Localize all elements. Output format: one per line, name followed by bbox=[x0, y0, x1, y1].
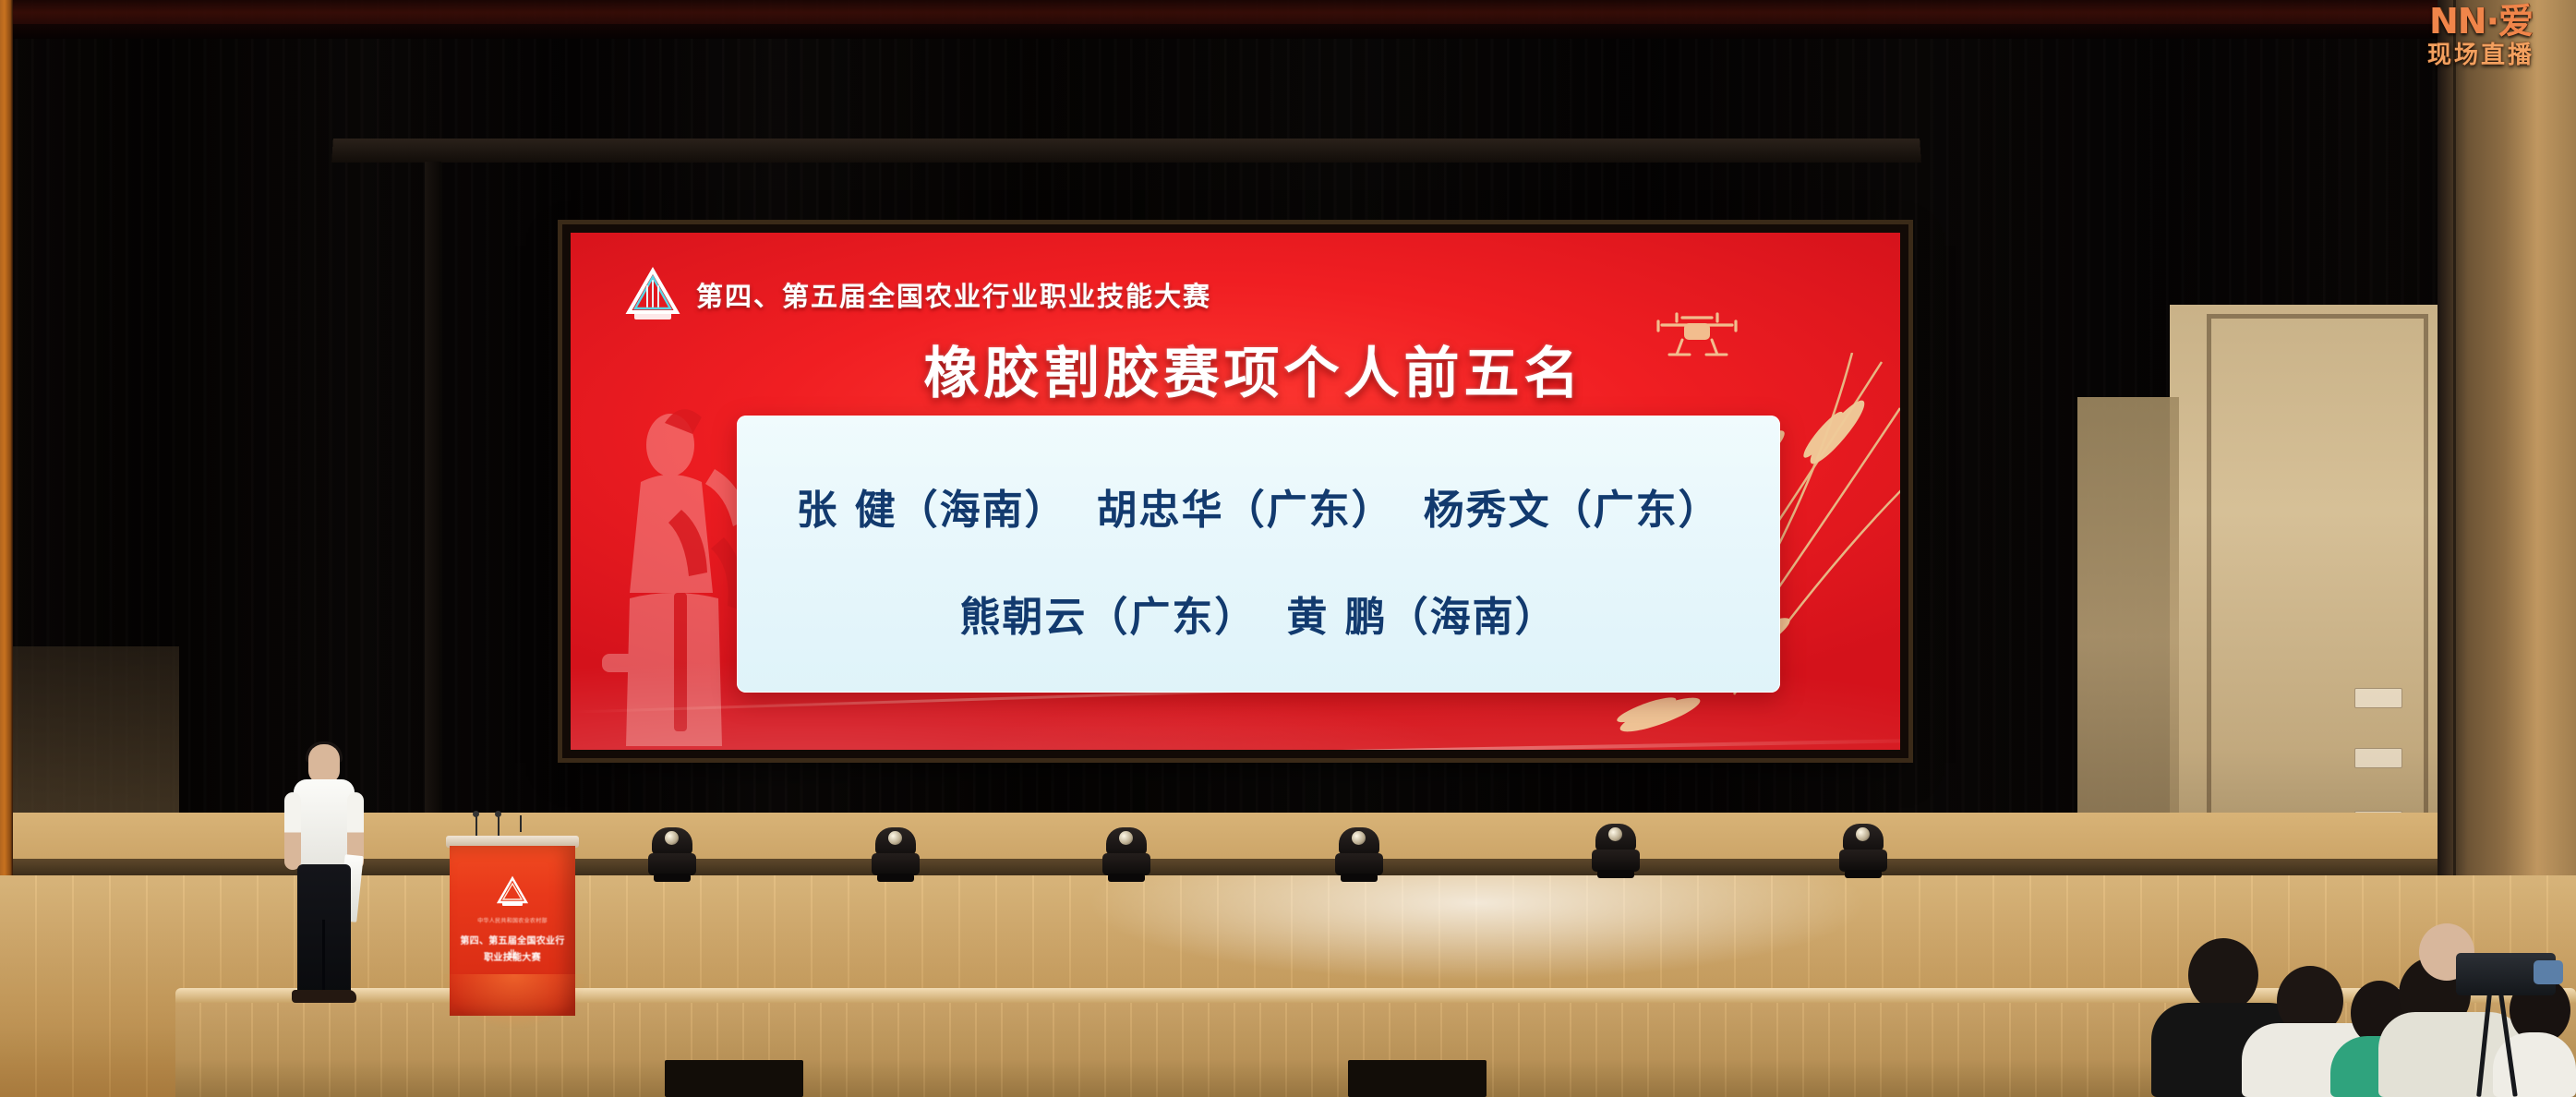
stage-front-vent bbox=[665, 1060, 803, 1097]
winners-card: 张 健（海南）胡忠华（广东）杨秀文（广东） 熊朝云（广东）黄 鹏（海南） bbox=[737, 416, 1780, 693]
curtain-valance-shadow bbox=[0, 24, 2576, 39]
auditorium-scene: 第四、第五届全国农业行业职业技能大赛 橡胶割胶赛项个人前五名 张 bbox=[0, 0, 2576, 1097]
presenter-head bbox=[308, 744, 340, 783]
broadcast-watermark: NN·爱 现场直播 bbox=[2399, 4, 2563, 76]
podium-text-line-3: 职业技能大赛 bbox=[457, 949, 568, 963]
audience-head bbox=[2188, 938, 2258, 1012]
podium-floor-glow bbox=[440, 974, 588, 1030]
moving-head-light bbox=[1590, 818, 1642, 879]
presenter-shoe bbox=[319, 990, 356, 1003]
winner-region: （广东） bbox=[1087, 594, 1257, 641]
channel-logo: NN·爱 bbox=[2399, 4, 2563, 39]
microphone-stand bbox=[475, 815, 477, 838]
right-door-frame bbox=[2207, 314, 2428, 868]
moving-head-light bbox=[870, 822, 921, 883]
proscenium-arch-beam bbox=[331, 139, 1921, 163]
winner-entry: 张 健（海南） bbox=[796, 476, 1066, 536]
microphone-stand bbox=[498, 815, 500, 838]
winner-region: （广东） bbox=[1551, 487, 1721, 534]
winners-row-1: 张 健（海南）胡忠华（广东）杨秀文（广东） bbox=[737, 476, 1780, 536]
moving-head-light bbox=[1333, 822, 1385, 883]
microphone-head bbox=[495, 811, 501, 817]
competition-emblem bbox=[624, 266, 681, 323]
moving-head-light bbox=[646, 822, 698, 883]
led-presentation-screen: 第四、第五届全国农业行业职业技能大赛 橡胶割胶赛项个人前五名 张 bbox=[571, 233, 1900, 750]
slide-event-header: 第四、第五届全国农业行业职业技能大赛 bbox=[696, 275, 1211, 314]
slide-header: 第四、第五届全国农业行业职业技能大赛 bbox=[624, 266, 1211, 323]
podium-lectern: 中华人民共和国农业农村部 第四、第五届全国农业行业 职业技能大赛 bbox=[450, 836, 575, 1016]
presenter-arm-left bbox=[284, 792, 301, 870]
winner-entry: 杨秀文（广东） bbox=[1424, 476, 1721, 536]
moving-head-light bbox=[1837, 818, 1889, 879]
winner-entry: 胡忠华（广东） bbox=[1097, 476, 1394, 536]
podium-text-line-1: 中华人民共和国农业农村部 bbox=[457, 916, 568, 924]
presenter-leg-split bbox=[322, 920, 325, 994]
live-broadcast-label: 现场直播 bbox=[2399, 43, 2563, 67]
wall-sign-plate bbox=[2354, 748, 2402, 768]
microphone-head bbox=[473, 811, 479, 817]
winner-region: （海南） bbox=[897, 487, 1067, 534]
moving-head-light bbox=[1101, 822, 1152, 883]
camera-viewfinder bbox=[2534, 960, 2563, 984]
winner-name: 张 健 bbox=[796, 487, 897, 534]
winners-row-2: 熊朝云（广东）黄 鹏（海南） bbox=[737, 584, 1780, 643]
proscenium-left-beam bbox=[425, 162, 441, 817]
winner-region: （海南） bbox=[1388, 594, 1558, 641]
winner-entry: 熊朝云（广东） bbox=[959, 584, 1257, 643]
wall-sign-plate bbox=[2354, 688, 2402, 708]
microphone-stand bbox=[520, 815, 522, 832]
presenter-person bbox=[273, 744, 377, 1021]
right-wall-panel-secondary bbox=[2077, 397, 2179, 877]
winner-region: （广东） bbox=[1224, 487, 1394, 534]
winner-entry: 黄 鹏（海南） bbox=[1286, 584, 1557, 643]
slide-title: 橡胶割胶赛项个人前五名 bbox=[571, 329, 1900, 409]
podium-emblem bbox=[496, 875, 529, 909]
stage-front-vent bbox=[1348, 1060, 1487, 1097]
winner-name: 熊朝云 bbox=[959, 594, 1087, 641]
winner-name: 胡忠华 bbox=[1097, 487, 1224, 534]
winner-name: 黄 鹏 bbox=[1286, 594, 1387, 641]
winner-name: 杨秀文 bbox=[1424, 487, 1551, 534]
